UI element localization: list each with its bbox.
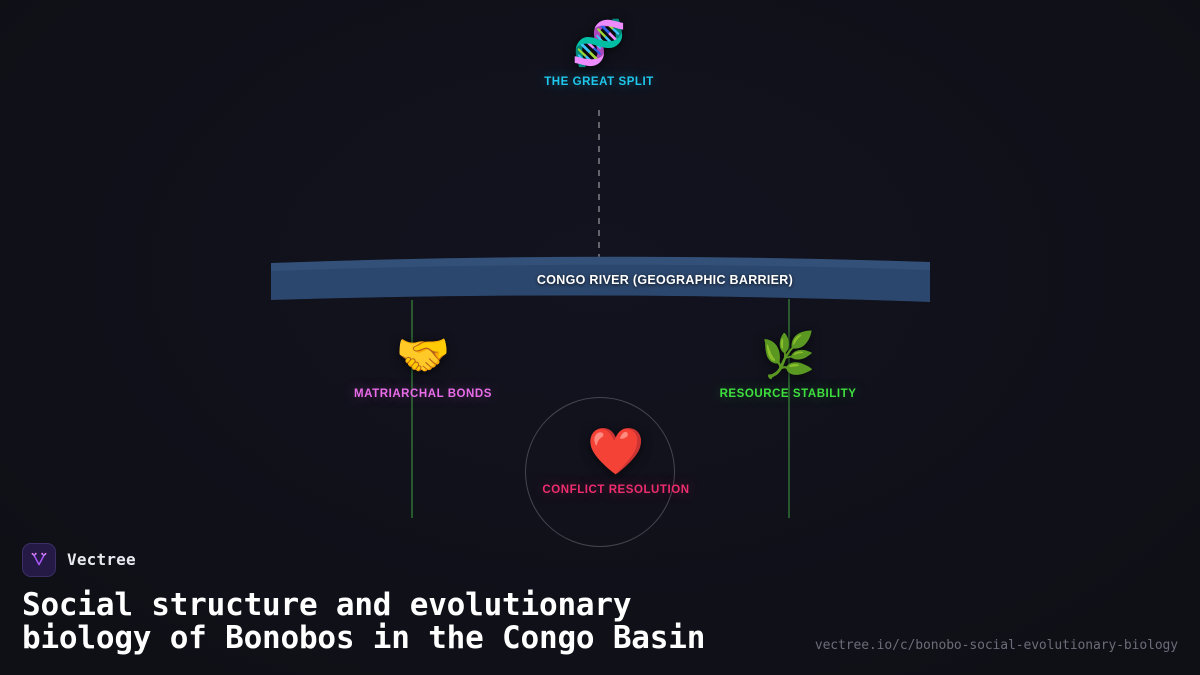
heart-icon: ❤️ bbox=[587, 428, 644, 474]
brand-name: Vectree bbox=[67, 550, 136, 569]
node-resource-stability[interactable]: 🌿 RESOURCE STABILITY bbox=[720, 334, 857, 400]
node-label-conflict-resolution: CONFLICT RESOLUTION bbox=[542, 484, 689, 496]
diagram-canvas: CONGO RIVER (GEOGRAPHIC BARRIER) 🧬 THE G… bbox=[0, 0, 1200, 675]
vectree-logo-icon bbox=[22, 543, 56, 577]
herb-icon: 🌿 bbox=[761, 334, 816, 378]
handshake-icon: 🤝 bbox=[396, 334, 451, 378]
node-the-great-split[interactable]: 🧬 THE GREAT SPLIT bbox=[544, 22, 654, 88]
page-title: Social structure and evolutionary biolog… bbox=[22, 589, 752, 655]
node-matriarchal-bonds[interactable]: 🤝 MATRIARCHAL BONDS bbox=[354, 334, 492, 400]
node-label-matriarchal-bonds: MATRIARCHAL BONDS bbox=[354, 388, 492, 400]
footer: Vectree Social structure and evolutionar… bbox=[22, 543, 1178, 655]
node-conflict-resolution[interactable]: ❤️ CONFLICT RESOLUTION bbox=[542, 428, 689, 496]
node-label-resource-stability: RESOURCE STABILITY bbox=[720, 388, 857, 400]
congo-river-label: CONGO RIVER (GEOGRAPHIC BARRIER) bbox=[262, 273, 938, 287]
page-url: vectree.io/c/bonobo-social-evolutionary-… bbox=[815, 638, 1178, 653]
congo-river-barrier[interactable]: CONGO RIVER (GEOGRAPHIC BARRIER) bbox=[262, 248, 938, 312]
dna-icon: 🧬 bbox=[572, 22, 627, 66]
brand[interactable]: Vectree bbox=[22, 543, 1178, 577]
node-label-the-great-split: THE GREAT SPLIT bbox=[544, 76, 654, 88]
